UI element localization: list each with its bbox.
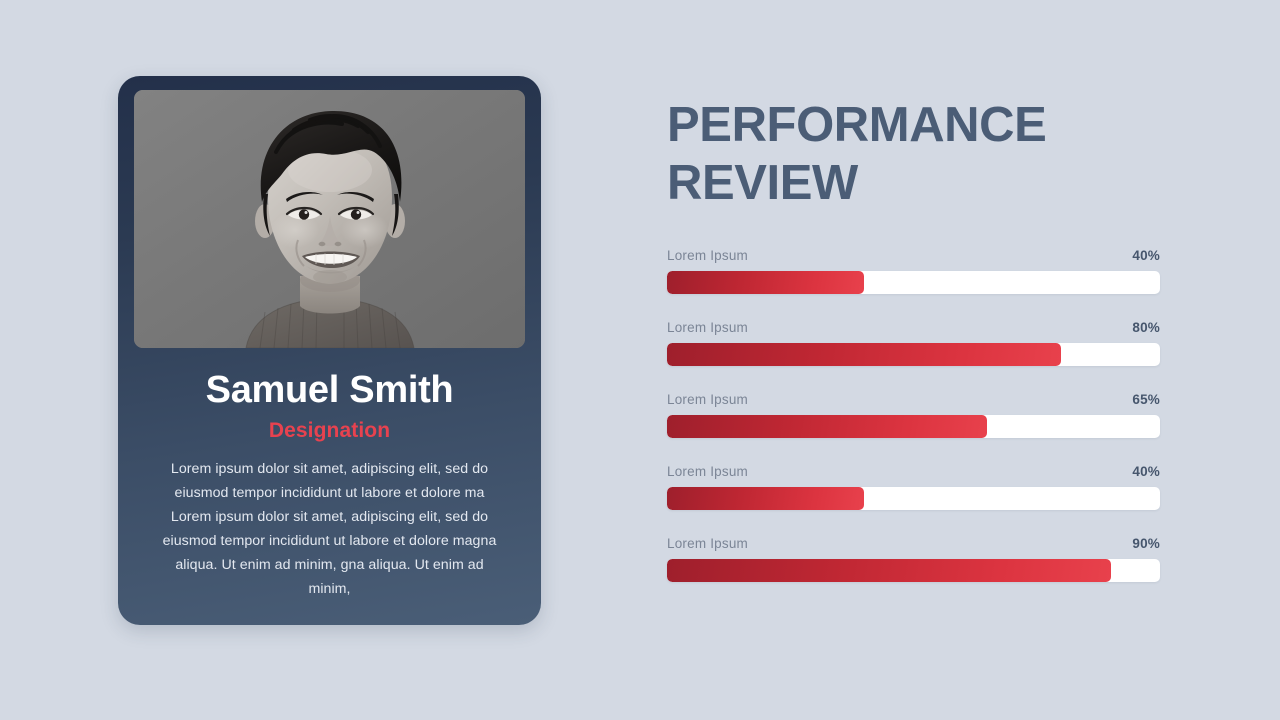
progress-bar-fill (667, 271, 864, 294)
progress-bar-label: Lorem Ipsum (667, 536, 748, 551)
progress-bar-fill (667, 487, 864, 510)
progress-bar-fill (667, 559, 1111, 582)
progress-bar-header: Lorem Ipsum 90% (667, 536, 1160, 551)
progress-bar-header: Lorem Ipsum 40% (667, 248, 1160, 263)
progress-bar-row: Lorem Ipsum 40% (667, 464, 1160, 510)
progress-bar-label: Lorem Ipsum (667, 320, 748, 335)
progress-bar-value: 40% (1132, 248, 1160, 263)
performance-review-panel: PERFORMANCE REVIEW Lorem Ipsum 40% Lorem… (667, 96, 1160, 582)
progress-bar-fill (667, 415, 987, 438)
progress-bar-value: 80% (1132, 320, 1160, 335)
profile-photo-frame (134, 90, 525, 348)
profile-card: Samuel Smith Designation Lorem ipsum dol… (118, 76, 541, 625)
profile-bio: Lorem ipsum dolor sit amet, adipiscing e… (154, 457, 505, 601)
progress-bar-track[interactable] (667, 487, 1160, 510)
progress-bar-row: Lorem Ipsum 90% (667, 536, 1160, 582)
progress-bar-row: Lorem Ipsum 65% (667, 392, 1160, 438)
progress-bar-header: Lorem Ipsum 80% (667, 320, 1160, 335)
profile-designation: Designation (118, 419, 541, 443)
progress-bar-track[interactable] (667, 343, 1160, 366)
progress-bar-header: Lorem Ipsum 40% (667, 464, 1160, 479)
profile-name: Samuel Smith (118, 368, 541, 412)
portrait-photo (134, 90, 525, 348)
progress-bar-header: Lorem Ipsum 65% (667, 392, 1160, 407)
progress-bar-value: 40% (1132, 464, 1160, 479)
progress-bar-label: Lorem Ipsum (667, 248, 748, 263)
progress-bar-row: Lorem Ipsum 40% (667, 248, 1160, 294)
progress-bar-value: 90% (1132, 536, 1160, 551)
progress-bar-fill (667, 343, 1061, 366)
progress-bar-track[interactable] (667, 559, 1160, 582)
progress-bar-list: Lorem Ipsum 40% Lorem Ipsum 80% Lorem Ip… (667, 248, 1160, 582)
progress-bar-row: Lorem Ipsum 80% (667, 320, 1160, 366)
progress-bar-track[interactable] (667, 271, 1160, 294)
progress-bar-track[interactable] (667, 415, 1160, 438)
progress-bar-label: Lorem Ipsum (667, 464, 748, 479)
page-title: PERFORMANCE REVIEW (667, 96, 1097, 212)
progress-bar-label: Lorem Ipsum (667, 392, 748, 407)
progress-bar-value: 65% (1132, 392, 1160, 407)
